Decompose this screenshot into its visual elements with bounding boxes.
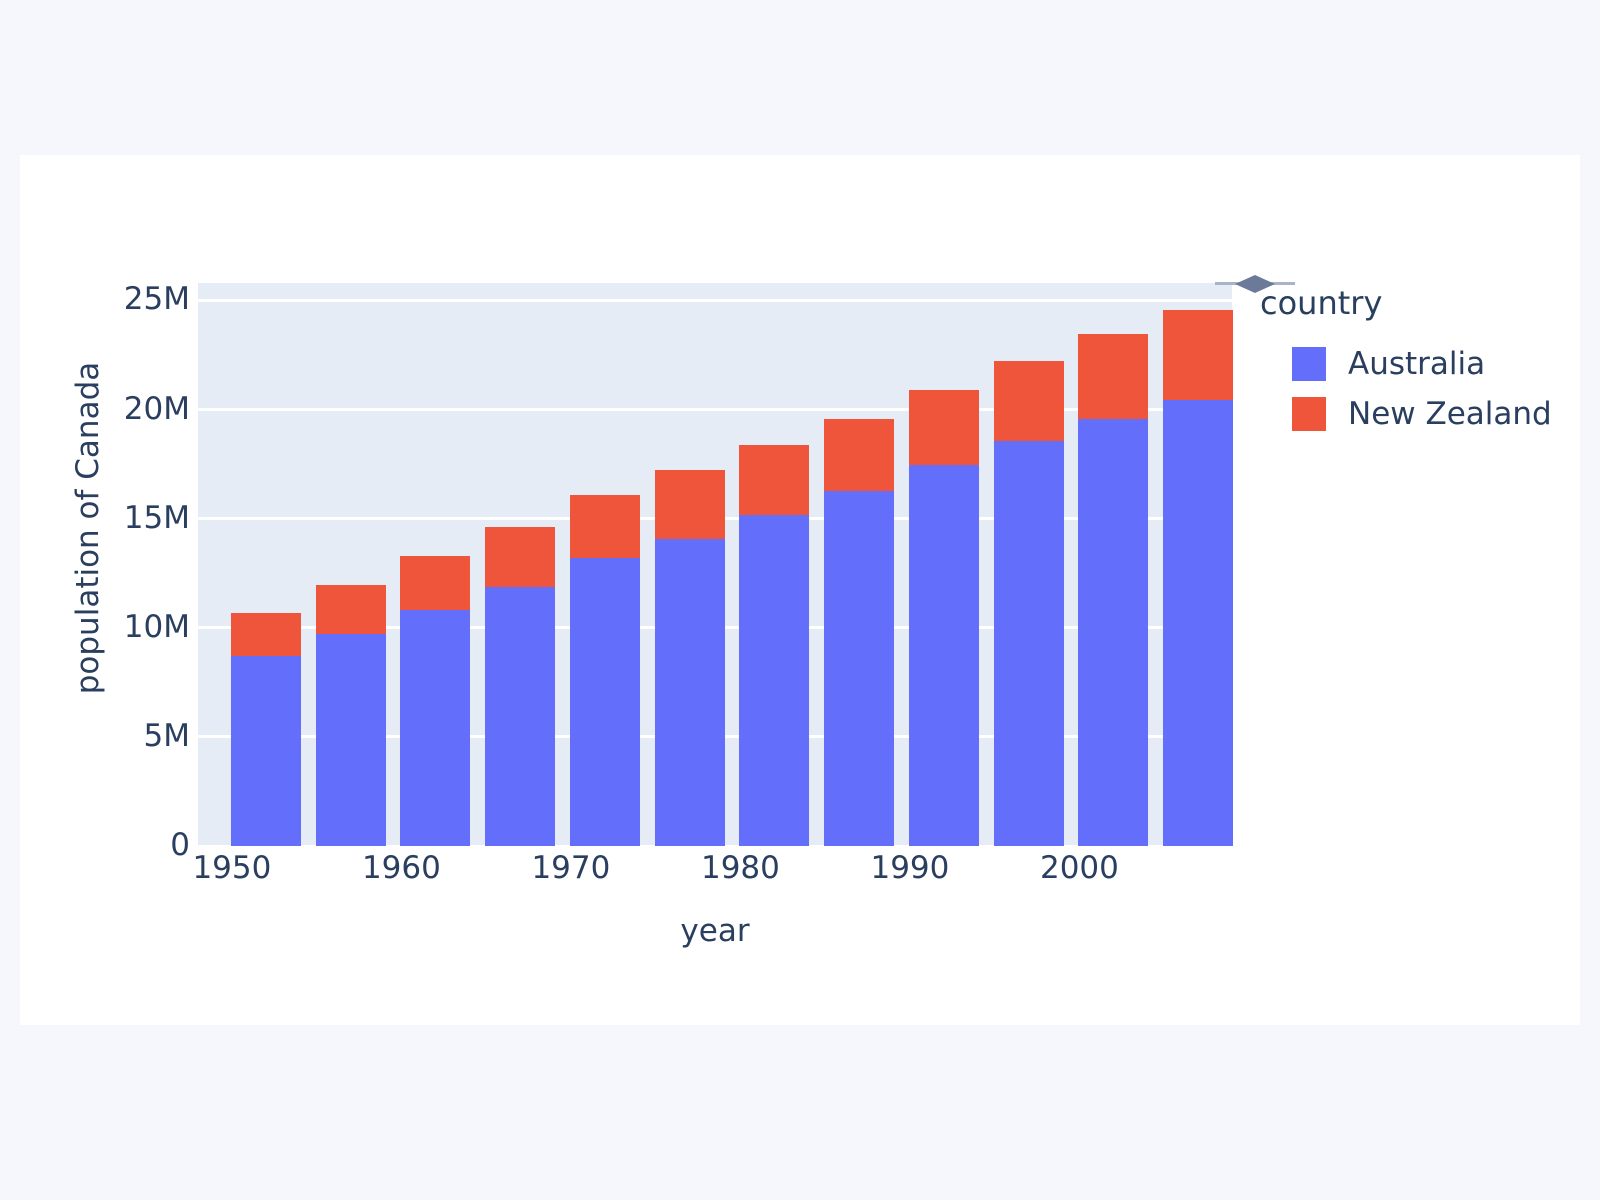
bar-segment-australia-1982[interactable] [739,515,809,846]
y-axis-tick-5M: 5M [144,721,190,752]
legend-title: country [1260,285,1558,321]
x-axis-tick-2000: 2000 [1040,853,1119,884]
bar-segment-new-zealand-1997[interactable] [994,361,1064,441]
x-axis-tick-1980: 1980 [701,853,780,884]
legend-items: AustraliaNew Zealand [1258,339,1558,439]
x-axis-tick-1990: 1990 [870,853,949,884]
bar-segment-australia-1962[interactable] [400,610,470,846]
legend-item-australia[interactable]: Australia [1292,339,1558,389]
legend-label-australia: Australia [1348,346,1485,382]
chart-card: 05M10M15M20M25M 195019601970198019902000… [20,155,1580,1025]
bar-segment-australia-1987[interactable] [824,491,894,846]
x-axis-title: year [198,913,1232,949]
y-axis-tick-25M: 25M [124,284,190,315]
legend-swatch-australia [1292,347,1326,381]
bar-segment-new-zealand-1992[interactable] [909,390,979,465]
legend-label-new-zealand: New Zealand [1348,396,1552,432]
bar-segment-new-zealand-1977[interactable] [655,470,725,539]
bar-series-container [198,283,1232,846]
x-axis-tick-1950: 1950 [192,853,271,884]
drag-handle-diamond-top [1235,275,1275,284]
y-axis-tick-10M: 10M [124,612,190,643]
y-axis-tick-15M: 15M [124,503,190,534]
legend-item-new-zealand[interactable]: New Zealand [1292,389,1558,439]
legend-swatch-new-zealand [1292,397,1326,431]
bar-segment-australia-2002[interactable] [1078,419,1148,846]
bar-segment-australia-1972[interactable] [570,558,640,846]
x-axis-tick-labels: 195019601970198019902000 [198,853,1232,893]
bar-segment-australia-1992[interactable] [909,465,979,846]
x-axis-tick-1960: 1960 [362,853,441,884]
bar-segment-new-zealand-1982[interactable] [739,445,809,515]
bar-segment-new-zealand-1987[interactable] [824,419,894,491]
y-axis-title: population of Canada [70,248,106,808]
bar-segment-new-zealand-1962[interactable] [400,556,470,610]
y-axis-tick-20M: 20M [124,394,190,425]
bar-segment-new-zealand-1957[interactable] [316,585,386,634]
bar-segment-new-zealand-2002[interactable] [1078,334,1148,419]
bar-segment-new-zealand-1967[interactable] [485,527,555,587]
plot-area[interactable] [198,283,1232,846]
bar-segment-australia-1952[interactable] [231,656,301,846]
legend: country AustraliaNew Zealand [1258,285,1558,439]
bar-segment-new-zealand-1972[interactable] [570,495,640,559]
bar-segment-new-zealand-1952[interactable] [231,613,301,657]
x-axis-tick-1970: 1970 [531,853,610,884]
bar-segment-australia-2007[interactable] [1163,400,1233,846]
bar-segment-australia-1977[interactable] [655,539,725,846]
y-axis-tick-0: 0 [170,830,190,861]
bar-segment-australia-1967[interactable] [485,587,555,846]
bar-segment-new-zealand-2007[interactable] [1163,310,1233,400]
bar-segment-australia-1997[interactable] [994,441,1064,846]
bar-segment-australia-1957[interactable] [316,634,386,846]
